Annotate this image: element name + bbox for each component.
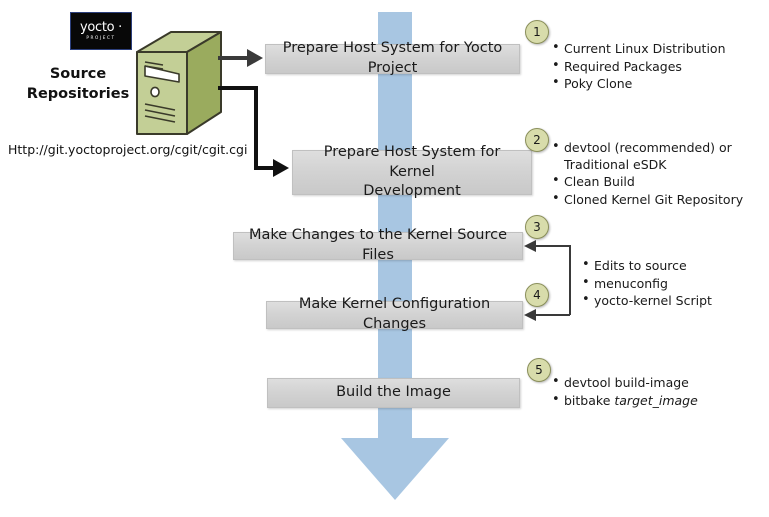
step-5-bullet-list: devtool build-image bitbake target_image — [552, 375, 752, 410]
step-number-3-label: 3 — [533, 220, 541, 234]
step-box-2-label-line2: Development — [363, 182, 461, 202]
list-item: menuconfig — [582, 276, 762, 293]
step-box-4[interactable]: Make Kernel Configuration Changes — [266, 301, 523, 329]
list-item: Required Packages — [552, 59, 762, 76]
step-box-1[interactable]: Prepare Host System for Yocto Project — [265, 44, 520, 74]
connector-server-to-step2-v — [254, 86, 258, 170]
list-item: Poky Clone — [552, 76, 762, 93]
connector-bracket-bottom — [536, 314, 570, 316]
arrowhead-to-step3-icon — [524, 240, 536, 252]
steps-3-4-bullet-list: Edits to source menuconfig yocto-kernel … — [582, 258, 762, 311]
connector-bracket-top — [536, 245, 570, 247]
step-box-3[interactable]: Make Changes to the Kernel Source Files — [233, 232, 523, 260]
step-2-bullet-list: devtool (recommended) or Traditional eSD… — [552, 140, 752, 209]
step-number-4-label: 4 — [533, 288, 541, 302]
list-item: bitbake target_image — [552, 393, 752, 410]
step-number-1: 1 — [525, 20, 549, 44]
workflow-down-arrow-icon — [341, 438, 449, 500]
step-box-4-label: Make Kernel Configuration Changes — [273, 295, 516, 334]
source-repositories-label: Source Repositories — [18, 64, 138, 104]
step5-bitbake-command: bitbake — [564, 393, 614, 408]
source-label-line1: Source — [18, 64, 138, 84]
connector-server-to-step2-h1 — [218, 86, 258, 90]
step-number-4: 4 — [525, 283, 549, 307]
step-number-1-label: 1 — [533, 25, 541, 39]
step-number-2-label: 2 — [533, 133, 541, 147]
step-1-bullet-list: Current Linux Distribution Required Pack… — [552, 41, 762, 94]
step-box-2-label-line1: Prepare Host System for Kernel — [299, 143, 525, 182]
step-number-3: 3 — [525, 215, 549, 239]
step5-bitbake-target: target_image — [614, 393, 697, 408]
list-item: Clean Build — [552, 174, 752, 191]
step-box-3-label: Make Changes to the Kernel Source Files — [240, 226, 516, 265]
arrowhead-server-to-step2-icon — [273, 159, 289, 177]
arrowhead-server-to-step1-icon — [247, 49, 263, 67]
step-box-2[interactable]: Prepare Host System for Kernel Developme… — [292, 150, 532, 195]
server-tower-icon — [133, 30, 225, 142]
list-item: devtool build-image — [552, 375, 752, 392]
step-number-5: 5 — [527, 358, 551, 382]
source-repositories-url: Http://git.yoctoproject.org/cgit/cgit.cg… — [8, 142, 247, 157]
connector-bracket-vertical — [569, 245, 571, 315]
list-item: Edits to source — [582, 258, 762, 275]
list-item: yocto-kernel Script — [582, 293, 762, 310]
step-box-5[interactable]: Build the Image — [267, 378, 520, 408]
yocto-project-logo: yocto · PROJECT — [70, 12, 132, 50]
connector-server-to-step1 — [218, 56, 248, 60]
source-label-line2: Repositories — [18, 84, 138, 104]
list-item: Cloned Kernel Git Repository — [552, 192, 752, 209]
list-item: devtool (recommended) or Traditional eSD… — [552, 140, 752, 173]
diagram-canvas: yocto · PROJECT Source Repositories Http… — [0, 0, 769, 517]
step-number-5-label: 5 — [535, 363, 543, 377]
step-box-5-label: Build the Image — [336, 383, 451, 403]
yocto-logo-subtext: PROJECT — [86, 36, 115, 40]
step-number-2: 2 — [525, 128, 549, 152]
list-item: Current Linux Distribution — [552, 41, 762, 58]
step-box-1-label: Prepare Host System for Yocto Project — [272, 39, 513, 78]
arrowhead-to-step4-icon — [524, 309, 536, 321]
yocto-logo-wordmark: yocto · — [80, 21, 122, 34]
